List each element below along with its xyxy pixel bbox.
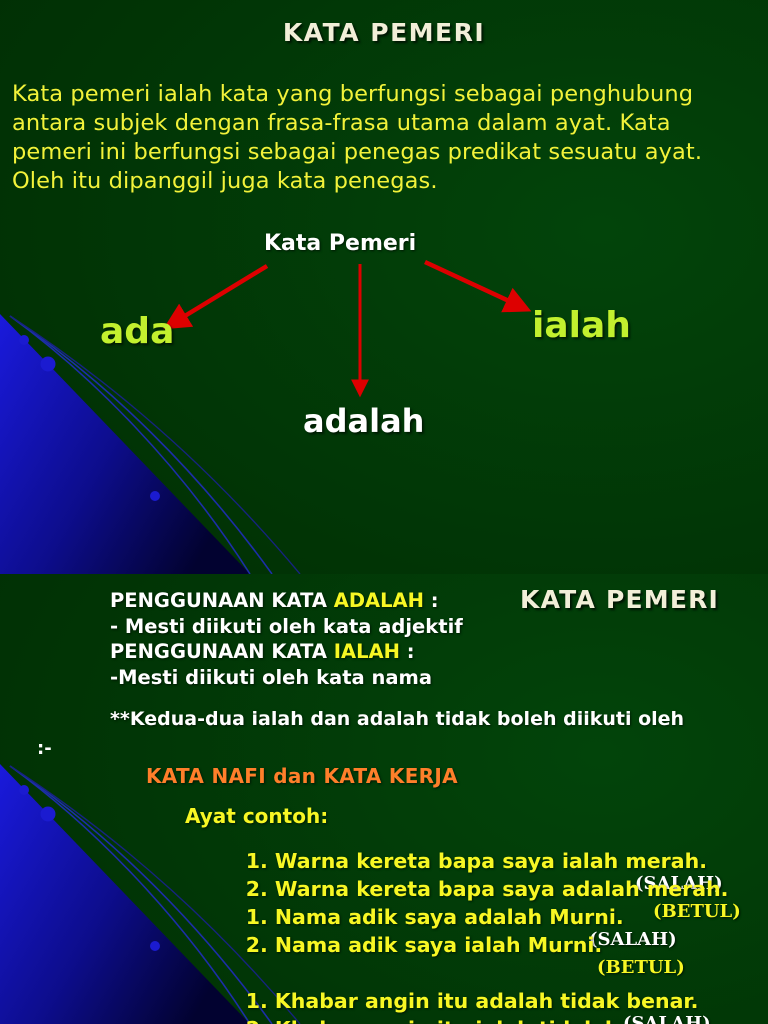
examples-list: 1. Warna kereta bapa saya ialah merah. (… xyxy=(205,830,728,1024)
slide-2-title: KATA PEMERI xyxy=(520,587,719,612)
usage-rules-block: PENGGUNAAN KATA ADALAH : - Mesti diikuti… xyxy=(110,588,463,690)
usage-rule-line: - Mesti diikuti oleh kata adjektif xyxy=(110,614,463,640)
arrow-to-ialah xyxy=(425,262,524,308)
usage-rule-line: PENGGUNAAN KATA IALAH : xyxy=(110,639,463,665)
example-row: 1. Nama adik saya adalah Murni. (SALAH) xyxy=(205,886,728,914)
example-row: 2. Khabar angin itu ialah tidak benar. (… xyxy=(205,998,728,1024)
usage-rule-prefix: -Mesti diikuti oleh kata nama xyxy=(110,666,432,689)
examples-heading: Ayat contoh: xyxy=(185,806,328,826)
usage-rule-keyword: IALAH xyxy=(334,640,400,663)
example-row: 2. Nama adik saya ialah Murni. (BETUL) xyxy=(205,914,728,942)
arrow-to-ada xyxy=(170,266,267,325)
colon-marker: :- xyxy=(37,740,52,758)
example-row: 2. Warna kereta bapa saya adalah merah. … xyxy=(205,858,728,886)
diagram-branch-adalah: adalah xyxy=(303,405,424,437)
diagram-root-label: Kata Pemeri xyxy=(264,233,416,255)
example-number: 2. xyxy=(246,1017,268,1024)
usage-rule-prefix: - Mesti diikuti oleh kata adjektif xyxy=(110,615,463,638)
usage-note: **Kedua-dua ialah dan adalah tidak boleh… xyxy=(110,710,684,729)
diagram-branch-ialah: ialah xyxy=(532,308,631,344)
presentation-page: KATA PEMERI Kata pemeri ialah kata yang … xyxy=(0,0,768,1024)
usage-rule-prefix: PENGGUNAAN KATA xyxy=(110,640,334,663)
usage-rule-prefix: PENGGUNAAN KATA xyxy=(110,589,334,612)
slide-1: KATA PEMERI Kata pemeri ialah kata yang … xyxy=(0,0,768,574)
example-row: 1. Khabar angin itu adalah tidak benar. … xyxy=(205,970,728,998)
usage-rule-line: PENGGUNAAN KATA ADALAH : xyxy=(110,588,463,614)
kata-nafi-kerja-label: KATA NAFI dan KATA KERJA xyxy=(146,766,458,786)
slide-2: KATA PEMERI PENGGUNAAN KATA ADALAH : - M… xyxy=(0,574,768,1024)
diagram-branch-ada: ada xyxy=(100,314,174,350)
example-row: 1. Warna kereta bapa saya ialah merah. (… xyxy=(205,830,728,858)
example-row-spacer xyxy=(205,942,728,970)
usage-rule-line: -Mesti diikuti oleh kata nama xyxy=(110,665,463,691)
usage-rule-suffix: : xyxy=(424,589,439,612)
usage-rule-keyword: ADALAH xyxy=(334,589,424,612)
usage-rule-suffix: : xyxy=(400,640,415,663)
slide-1-paragraph: Kata pemeri ialah kata yang berfungsi se… xyxy=(12,80,712,196)
example-sentence: Khabar angin itu ialah tidak benar. xyxy=(275,1017,677,1024)
slide-1-title: KATA PEMERI xyxy=(0,20,768,45)
